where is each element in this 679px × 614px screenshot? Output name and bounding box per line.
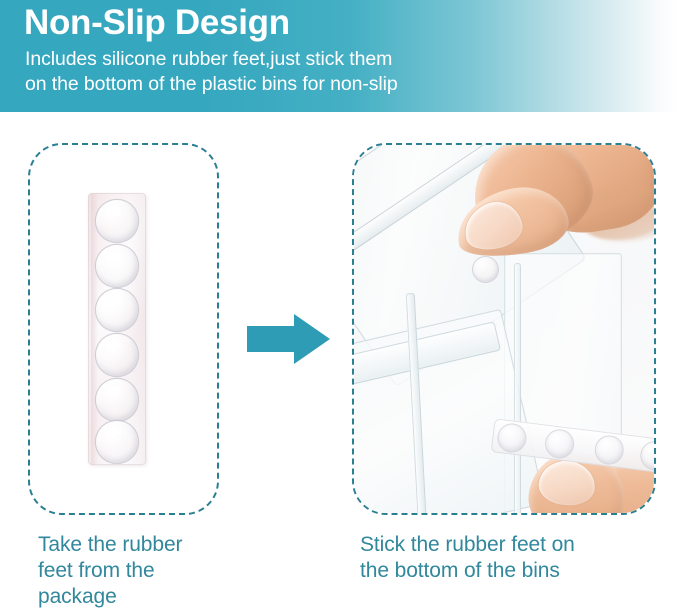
rubber-foot-dome bbox=[545, 429, 575, 459]
rubber-foot-being-applied bbox=[473, 257, 498, 282]
left-caption: Take the rubber feet from the package bbox=[38, 532, 248, 610]
right-arrow-icon bbox=[247, 314, 330, 364]
rubber-foot-dome bbox=[96, 334, 138, 376]
rubber-foot-dome bbox=[96, 289, 138, 331]
header-subtitle-line-1: Includes silicone rubber feet,just stick… bbox=[25, 47, 398, 72]
header-subtitle-line-2: on the bottom of the plastic bins for no… bbox=[25, 72, 398, 97]
product-infographic: Non-Slip Design Includes silicone rubber… bbox=[0, 0, 679, 614]
rubber-foot-dome bbox=[497, 423, 527, 453]
rubber-foot-dome bbox=[640, 441, 656, 471]
rubber-foot-dome bbox=[594, 435, 624, 465]
rubber-foot-dome bbox=[96, 421, 138, 463]
left-caption-line-2: feet from the bbox=[38, 558, 248, 584]
right-caption-line-2: the bottom of the bins bbox=[360, 558, 660, 584]
header-subtitle: Includes silicone rubber feet,just stick… bbox=[25, 47, 398, 97]
page-title: Non-Slip Design bbox=[24, 3, 290, 43]
left-caption-line-1: Take the rubber bbox=[38, 532, 248, 558]
rubber-feet-blister-strip bbox=[88, 193, 146, 465]
applying-rubber-feet-panel bbox=[352, 143, 656, 515]
right-caption: Stick the rubber feet on the bottom of t… bbox=[360, 532, 660, 584]
rubber-feet-package-panel bbox=[28, 143, 219, 515]
header-banner: Non-Slip Design Includes silicone rubber… bbox=[0, 0, 679, 112]
rubber-foot-dome bbox=[96, 200, 138, 242]
rubber-foot-dome bbox=[96, 379, 138, 421]
application-photo bbox=[354, 145, 654, 513]
left-caption-line-3: package bbox=[38, 584, 248, 610]
right-caption-line-1: Stick the rubber feet on bbox=[360, 532, 660, 558]
upper-hand bbox=[454, 143, 656, 315]
rubber-foot-dome bbox=[96, 245, 138, 287]
